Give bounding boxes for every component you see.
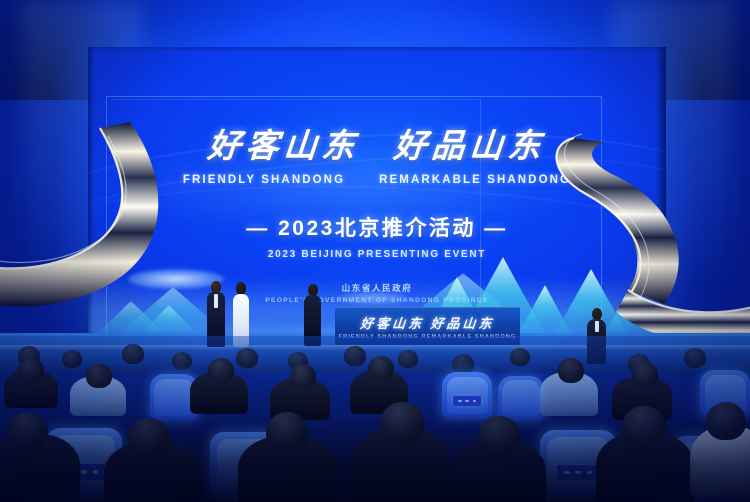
scene-vignette xyxy=(0,0,750,502)
event-photo-scene: 好客山东 好品山东 FRIENDLY SHANDONG REMARKABLE S… xyxy=(0,0,750,502)
